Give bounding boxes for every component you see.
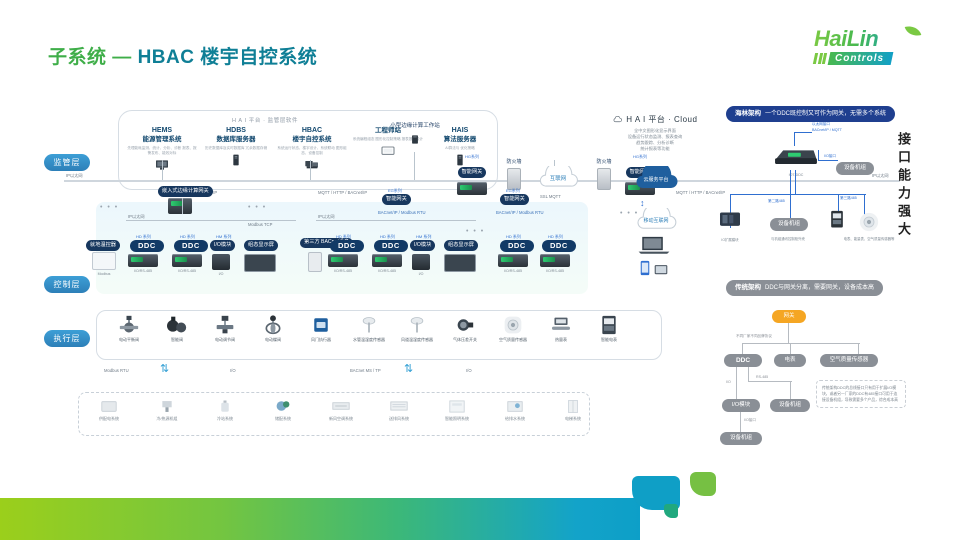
drop-line [162, 160, 163, 180]
link-line [790, 343, 791, 354]
right-top-title: 海林架构一个DDC既控制又可作为网关，无需多个系统 [726, 106, 895, 122]
ddc-caption: I/O/RS-485 [372, 269, 402, 273]
edge-gateway-device[interactable] [168, 198, 192, 214]
unit-caption-mid: 与机组通讯控制柜外壳 [752, 236, 824, 241]
internet-cloud: 互联网 [534, 166, 582, 195]
third-party-device[interactable] [308, 252, 322, 272]
decor-shape-green-small [664, 504, 678, 518]
system-label: 新风空调系统 [314, 416, 368, 422]
thermostat-device[interactable]: Modbus [92, 252, 116, 276]
ddc-device-1[interactable]: I/O/RS-485 [128, 254, 158, 273]
power-meter-icon [830, 210, 844, 230]
legacy-node-aq[interactable]: 空气质量传感器 [820, 354, 878, 367]
air-quality-device[interactable] [858, 212, 880, 237]
link-line [790, 381, 791, 399]
exec-proto-1: I/O [230, 368, 236, 373]
right-bottom-title: 传统架构DDC与网关分离，需要网关，设备成本高 [726, 280, 883, 296]
logo-subtitle: Controls [828, 52, 894, 65]
hai-cloud-title: H A I 平台 · Cloud [626, 115, 697, 124]
exec-label: 智能电表 [580, 337, 638, 343]
legacy-link-io: I/O [726, 380, 731, 384]
page-title-main: HBAC 楼宇自控系统 [138, 47, 318, 68]
legacy-gateway-node[interactable]: 网关 [772, 310, 806, 323]
ddc-chip-6[interactable]: DDC [542, 240, 576, 252]
system-item-6[interactable]: 智能照明系统 [430, 396, 484, 422]
io-expansion-caption: IO扩展模块 [718, 237, 742, 242]
ddc-chip-1[interactable]: DDC [130, 240, 164, 252]
link-line [790, 194, 791, 218]
io-module-device-1[interactable]: I/O [212, 254, 230, 276]
system-item-4[interactable]: 新风空调系统 [314, 396, 368, 422]
sup-item-desc: 历史数据库及实时数据库 冗余数据存储 [200, 146, 272, 151]
power-meter-icon [580, 314, 638, 336]
cloud-platform-label: 云服务平台 [630, 176, 682, 183]
link-line [748, 367, 749, 381]
decor-shape-green [690, 472, 716, 496]
drop-line [310, 160, 311, 180]
right-top-title-text: 一个DDC既控制又可作为网关，无需多个系统 [765, 111, 886, 117]
sup-item-name-cn: 能源管理系统 [126, 135, 198, 144]
server-icon [228, 154, 244, 166]
io-caption: I/O [212, 272, 230, 276]
system-label: 智能照明系统 [430, 416, 484, 422]
phone-icon [640, 260, 650, 276]
thermostat-caption: Modbus [92, 272, 116, 276]
control-bus-left [126, 220, 296, 221]
port-top-label: 以太网接口 [812, 122, 830, 127]
legacy-unit-1[interactable]: 设备机组 [770, 399, 810, 412]
legacy-root-note: 不同厂家不同品牌协议 [736, 334, 772, 339]
interface-capability-text: 接口能力强大 [894, 132, 913, 240]
page-title-prefix: 子系统 — [48, 47, 132, 68]
ddc-caption: I/O/RS-485 [540, 269, 570, 273]
thermostat-chip[interactable]: 就地温控器 [86, 240, 120, 251]
layer-label-supervisory: 监管层 [44, 154, 90, 171]
ddc-device-icon [772, 144, 820, 168]
system-item-8[interactable]: 电梯系统 [546, 396, 600, 422]
uplink-arrow-icon: ↕ [640, 198, 645, 208]
link-line [858, 343, 859, 354]
legacy-note: 传统架构DDC的总线接口只有用于扩展I/O模块，或者另一厂家的DDC有485接口… [816, 380, 906, 408]
page-title: 子系统 — HBAC 楼宇自控系统 [48, 42, 317, 69]
air-quality-icon [858, 212, 880, 232]
bus-left-label: 第二路485 [768, 199, 785, 204]
ellipsis: • • • [466, 228, 485, 235]
ellipsis: • • • [100, 204, 119, 211]
eg-gateway-chip-2[interactable]: 智能网关 [500, 194, 529, 205]
ddc-device-2[interactable]: I/O/RS-485 [172, 254, 202, 273]
firewall-label: 防火墙 [500, 158, 528, 165]
sup-item-hdbs[interactable]: HDBS 数据库服务器 历史数据库及实时数据库 冗余数据存储 [200, 126, 272, 171]
system-label: 冷/热源机组 [140, 416, 194, 422]
meter-device[interactable] [830, 210, 844, 235]
right-bottom-title-text: DDC与网关分离，需要网关，设备成本高 [765, 285, 874, 291]
right-bottom-title-tag: 传统架构 [735, 284, 761, 291]
cooling-station-icon [198, 396, 252, 416]
gateway-label: 智能网关 [458, 167, 487, 178]
io-caption: I/O [412, 272, 430, 276]
storage-icon [256, 396, 310, 416]
ddc-device-4[interactable]: I/O/RS-485 [372, 254, 402, 273]
bus-top-label: IP以太网 [66, 173, 83, 179]
laptop-icon [636, 234, 672, 256]
exec-proto-3: I/O [466, 368, 472, 373]
bacnet-modbus-label: BACnet/IP / Modbus RTU [378, 210, 426, 215]
device-caption-right: 电表、能量表、空气质量传感器等 [824, 236, 914, 241]
ddc-chip-5[interactable]: DDC [500, 240, 534, 252]
right-top-unit-1[interactable]: 设备机组 [836, 162, 874, 175]
system-label: 送排风系统 [372, 416, 426, 422]
link-line [794, 132, 812, 133]
ellipsis: • • • [248, 204, 267, 211]
ddc-caption: I/O/RS-485 [328, 269, 358, 273]
workstation-icon [304, 159, 320, 171]
link-line [788, 323, 789, 343]
ddc-device-3[interactable]: I/O/RS-485 [328, 254, 358, 273]
legacy-link-485: RS-485 [756, 375, 768, 379]
hmi-device-1[interactable] [244, 254, 276, 272]
io-module-device-2[interactable]: I/O [412, 254, 430, 276]
sup-item-name-cn: 楼宇自控系统 [276, 135, 348, 144]
legacy-node-ddc[interactable]: DDC [724, 354, 762, 367]
sup-item-hbac[interactable]: HBAC 楼宇自控系统 系统运行状态、楼宇设计、系统联动 图形组态、设备控制 [276, 126, 348, 176]
modbus-tcp-label: Modbus TCP [248, 222, 272, 227]
gateway-series-label: HG系列 [620, 154, 660, 160]
io-module-chip-2[interactable]: I/O模块 [410, 240, 435, 251]
bacnet-modbus-label: BACnet/IP / Modbus RTU [496, 210, 544, 215]
layer-label-control: 控制层 [44, 276, 90, 293]
lighting-icon [430, 396, 484, 416]
ddc-device-6[interactable]: I/O/RS-485 [540, 254, 570, 273]
io-expansion-device[interactable]: IO扩展模块 [718, 210, 742, 242]
system-label: 冷站系统 [198, 416, 252, 422]
io-module-icon [718, 210, 742, 230]
sup-item-name-cn: 数据库服务器 [200, 135, 272, 144]
link-line [794, 132, 795, 146]
bus-top-right-label: IP以太网 [872, 173, 889, 179]
firewall-2: 防火墙 [590, 158, 618, 190]
sup-item-name: HEMS [126, 126, 198, 135]
system-label: 电梯系统 [546, 416, 600, 422]
io-module-chip-1[interactable]: I/O模块 [210, 240, 235, 251]
link-line [740, 412, 741, 432]
hmi-device-2[interactable] [444, 254, 476, 272]
sup-item-name: HBAC [276, 126, 348, 135]
link-line [818, 150, 819, 161]
hailin-logo: HaiLin Controls [814, 28, 934, 74]
mobile-internet-label: 移动互联网 [630, 217, 682, 224]
ddc-chip-3[interactable]: DDC [330, 240, 364, 252]
ddc-caption: I/O/RS-485 [498, 269, 528, 273]
sup-item-name: HDBS [200, 126, 272, 135]
right-top-title-tag: 海林架构 [735, 110, 761, 117]
gateway-series-label: HG系列 [452, 154, 492, 160]
firewall-label: 防火墙 [590, 158, 618, 165]
system-item-5[interactable]: 送排风系统 [372, 396, 426, 422]
ddc-caption: I/O/RS-485 [128, 269, 158, 273]
edge-workstation-label: 小型边缘计算工作站 [380, 122, 450, 130]
ahu-icon [314, 396, 368, 416]
hmi-chip-1[interactable]: 组态显示屏 [244, 240, 278, 251]
link-line [795, 170, 796, 194]
architecture-diagram: 监管层 控制层 执行层 H A I 平台 · 监管层软件 HEMS 能源管理系统… [0, 92, 960, 452]
drop-line [414, 152, 415, 180]
port-top-proto: BACnet/IP / MQTT [812, 128, 842, 132]
firewall-1: 防火墙 [500, 158, 528, 190]
sup-item-desc: 系统运行状态、楼宇设计、系统联动 图形组态、设备控制 [276, 146, 348, 156]
ellipsis: • • • [620, 210, 639, 217]
bus-line [742, 343, 860, 344]
eg-gateway-chip-1[interactable]: 智能网关 [382, 194, 411, 205]
internet-label: 互联网 [534, 174, 582, 182]
layer-label-execution: 执行层 [44, 330, 90, 347]
hmi-chip-2[interactable]: 组态显示屏 [444, 240, 478, 251]
bus-right-label: 第三路485 [840, 196, 857, 201]
power-supply-icon [82, 396, 136, 416]
bars-icon [814, 53, 826, 64]
workstation-icon [408, 134, 422, 145]
exec-item-10[interactable]: 智能电表 [580, 314, 638, 343]
system-label: 储配系统 [256, 416, 310, 422]
system-item-0[interactable]: 供配电系统 [82, 396, 136, 422]
link-line [818, 160, 838, 161]
system-item-3[interactable]: 储配系统 [256, 396, 310, 422]
legacy-io-module[interactable]: I/O模块 [722, 399, 760, 412]
gateway-1[interactable]: HG系列 智能网关 [452, 154, 492, 195]
system-item-7[interactable]: 给排水系统 [488, 396, 542, 422]
link-line [790, 170, 791, 194]
tablet-icon [654, 264, 668, 276]
system-item-1[interactable]: 冷/热源机组 [140, 396, 194, 422]
elevator-icon [546, 396, 600, 416]
ddc-chip-2[interactable]: DDC [174, 240, 208, 252]
control-bus-right [316, 220, 476, 221]
fan-system-icon [372, 396, 426, 416]
water-system-icon [488, 396, 542, 416]
port-io-label: I/O接口 [824, 154, 836, 159]
exec-proto-2: BACnet MS / TP [350, 368, 381, 373]
legacy-link-io2: I/O接口 [744, 418, 756, 423]
ddc-caption: I/O/RS-485 [172, 269, 202, 273]
system-label: 供配电系统 [82, 416, 136, 422]
ddc-chip-4[interactable]: DDC [374, 240, 408, 252]
right-top-unit-2[interactable]: 设备机组 [770, 218, 808, 231]
hai-cloud-desc: 全中文图形化显示界面 设备运行状态监测、报表查询 趋势跟踪、分析诊断 统计报表等… [596, 128, 714, 152]
ssl-mqtt-label: SSL MQTT [540, 194, 561, 199]
chiller-icon [140, 396, 194, 416]
link-line [736, 367, 737, 399]
cloud-service-platform[interactable]: 云服务平台 [630, 166, 682, 197]
proto-label-1: MQTT / HTTP / BACnet/IP [318, 190, 367, 195]
bidirectional-arrow-icon: ⇅ [160, 362, 169, 375]
legacy-unit-2[interactable]: 设备机组 [720, 432, 762, 445]
exec-proto-0: Modbus RTU [104, 368, 129, 373]
ddc-device-5[interactable]: I/O/RS-485 [498, 254, 528, 273]
cloud-icon [613, 116, 622, 123]
sup-item-desc: 先理能耗监测、统计、分析、诊断 报表、报警发布、能效对标 [126, 146, 198, 156]
link-line [748, 381, 792, 382]
system-item-2[interactable]: 冷站系统 [198, 396, 252, 422]
supervisory-software-label: H A I 平台 · 监管层软件 [232, 116, 298, 124]
proto-label-2: MQTT / HTTP / BACnet/IP [676, 190, 725, 195]
system-label: 给排水系统 [488, 416, 542, 422]
bidirectional-arrow-icon: ⇅ [404, 362, 413, 375]
edge-workstation[interactable]: 小型边缘计算工作站 [380, 122, 450, 150]
legacy-node-meter[interactable]: 电表 [774, 354, 806, 367]
link-line [742, 343, 743, 354]
hai-cloud-platform[interactable]: H A I 平台 · Cloud 全中文图形化显示界面 设备运行状态监测、报表查… [596, 114, 714, 152]
embedded-edge-gateway-chip[interactable]: 嵌入式边缘计算网关 [158, 186, 213, 197]
bus-sub-label: IP以太网 [318, 214, 335, 220]
bottom-gradient-bar [0, 498, 640, 540]
bus-sub-label: IP以太网 [128, 214, 145, 220]
